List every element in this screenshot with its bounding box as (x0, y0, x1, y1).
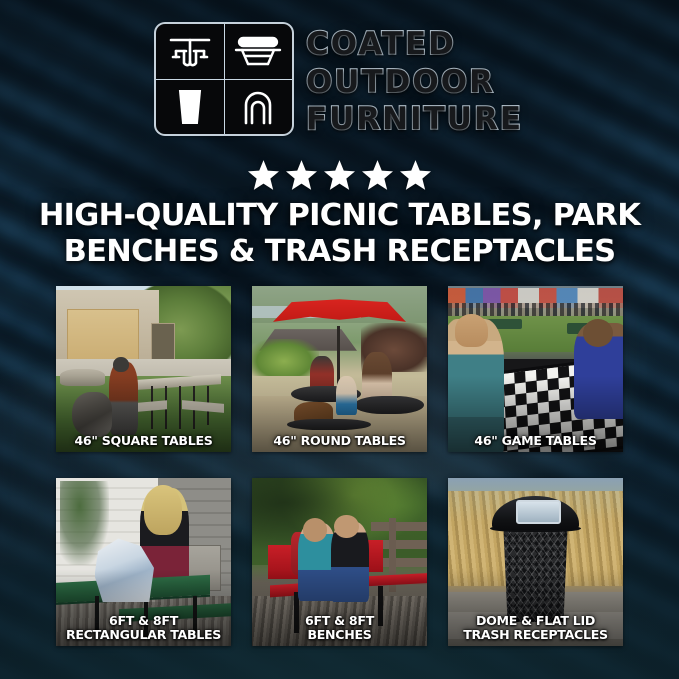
product-grid: 46" SQUARE TABLES (56, 286, 623, 646)
product-tile-round-tables[interactable]: 46" ROUND TABLES (252, 286, 427, 452)
headline-line-1: HIGH-QUALITY PICNIC TABLES, PARK (30, 198, 649, 234)
logo-icon-grid (156, 24, 292, 134)
product-caption: 6FT & 8FT RECTANGULAR TABLES (56, 614, 231, 641)
product-caption: 46" ROUND TABLES (252, 434, 427, 447)
bike-rack-arch-icon (224, 79, 292, 134)
headline-line-2: BENCHES & TRASH RECEPTACLES (30, 234, 649, 270)
caption-line: 46" GAME TABLES (450, 434, 621, 447)
picnic-table-icon (156, 24, 224, 79)
product-tile-trash-receptacles[interactable]: DOME & FLAT LID TRASH RECEPTACLES (448, 478, 623, 646)
wordmark-line-1: COATED (306, 26, 456, 63)
caption-line: 6FT & 8FT (58, 614, 229, 627)
star-rating (0, 160, 679, 190)
product-caption: 46" GAME TABLES (448, 434, 623, 447)
caption-line: 46" SQUARE TABLES (58, 434, 229, 447)
product-tile-benches[interactable]: 6FT & 8FT BENCHES (252, 478, 427, 646)
caption-line: RECTANGULAR TABLES (58, 628, 229, 641)
star-icon (286, 160, 317, 190)
brand-wordmark: COATED OUTDOOR FURNITURE (306, 24, 523, 138)
brand-logo: COATED OUTDOOR FURNITURE (0, 24, 679, 138)
poster-canvas: COATED OUTDOOR FURNITURE HIGH-QUALITY PI… (0, 0, 679, 679)
star-icon (248, 160, 279, 190)
headline: HIGH-QUALITY PICNIC TABLES, PARK BENCHES… (30, 198, 649, 270)
caption-line: DOME & FLAT LID (450, 614, 621, 627)
product-caption: 6FT & 8FT BENCHES (252, 614, 427, 641)
caption-line: TRASH RECEPTACLES (450, 628, 621, 641)
caption-line: BENCHES (254, 628, 425, 641)
caption-line: 46" ROUND TABLES (254, 434, 425, 447)
bench-table-icon (224, 24, 292, 79)
wordmark-line-2: OUTDOOR (306, 64, 495, 101)
product-caption: DOME & FLAT LID TRASH RECEPTACLES (448, 614, 623, 641)
star-icon (400, 160, 431, 190)
star-icon (324, 160, 355, 190)
product-tile-square-tables[interactable]: 46" SQUARE TABLES (56, 286, 231, 452)
product-tile-rectangular-tables[interactable]: 6FT & 8FT RECTANGULAR TABLES (56, 478, 231, 646)
trash-receptacle-icon (156, 79, 224, 134)
wordmark-line-3: FURNITURE (306, 101, 523, 138)
star-icon (362, 160, 393, 190)
product-tile-game-tables[interactable]: 46" GAME TABLES (448, 286, 623, 452)
product-caption: 46" SQUARE TABLES (56, 434, 231, 447)
caption-line: 6FT & 8FT (254, 614, 425, 627)
